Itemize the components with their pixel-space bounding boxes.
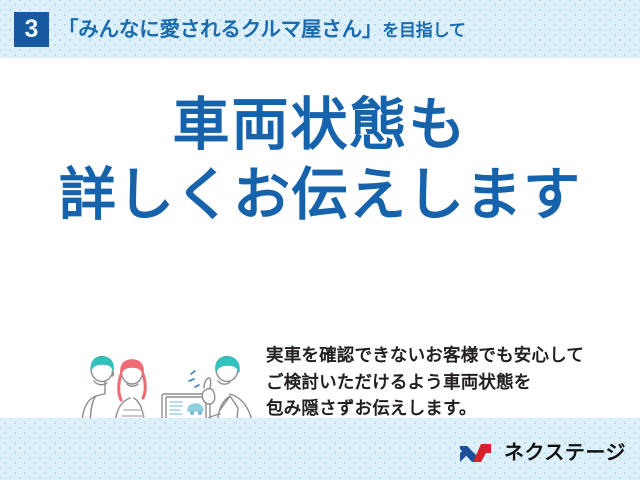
brand-name: ネクステージ xyxy=(504,443,626,463)
nextage-n-mark-icon xyxy=(458,441,498,465)
headline-line-2: 詳しくお伝えします xyxy=(0,160,640,230)
headline: 車両状態も 詳しくお伝えします xyxy=(0,90,640,230)
advertisement-banner: 3 「みんなに愛されるクルマ屋さん」を目指して 車両状態も 詳しくお伝えします xyxy=(0,0,640,480)
header-title-tail: を目指して xyxy=(382,21,466,40)
header-title-main: 「みんなに愛されるクルマ屋さん」 xyxy=(58,18,382,41)
body-text-line-2: ご検討いただけるよう車両状態を xyxy=(266,369,620,396)
main-content-panel: 車両状態も 詳しくお伝えします xyxy=(0,58,640,418)
section-number-badge: 3 xyxy=(14,12,49,47)
header-title: 「みんなに愛されるクルマ屋さん」を目指して xyxy=(58,13,466,46)
headline-line-1: 車両状態も xyxy=(173,93,468,157)
brand-logo: ネクステージ xyxy=(458,438,626,468)
body-text-line-1: 実車を確認できないお客様でも安心して xyxy=(266,342,620,369)
